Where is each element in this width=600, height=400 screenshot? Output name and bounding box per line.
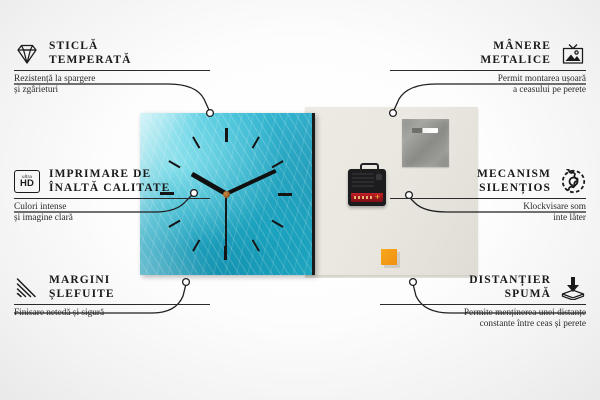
framed-picture-icon: [560, 41, 586, 67]
callout-header: DISTANȚIER SPUMĂ: [380, 274, 586, 304]
callout-description: Klockvisare som inte låter: [390, 199, 586, 225]
callout-description: Finisare netedă și sigură: [14, 305, 210, 319]
feature-callout-manere-metalice[interactable]: MÂNERE METALICE Permit montarea ușoară a…: [390, 40, 586, 97]
gear-icon: [560, 169, 586, 195]
feature-callout-margini-slefuite[interactable]: MARGINI ȘLEFUITE Finisare netedă și sigu…: [14, 274, 210, 319]
callout-title: DISTANȚIER SPUMĂ: [469, 274, 551, 301]
clock-tick: [225, 128, 227, 194]
product-feature-infographic: +: [0, 0, 600, 400]
callout-header: MÂNERE METALICE: [390, 40, 586, 70]
callout-description: Culori intense și imagine clară: [14, 199, 210, 225]
callout-header: ultra HD IMPRIMARE DE ÎNALTĂ CALITATE: [14, 168, 210, 198]
callout-title: MECANISM SILENȚIOS: [477, 168, 551, 195]
diamond-icon: [14, 41, 40, 67]
feature-callout-imprimare-inalta-calitate[interactable]: ultra HD IMPRIMARE DE ÎNALTĂ CALITATE Cu…: [14, 168, 210, 225]
callout-description: Rezistență la spargere și zgârieturi: [14, 71, 210, 97]
mechanism-housing-detail: [352, 173, 374, 187]
clock-tick: [226, 193, 292, 195]
callout-header: MARGINI ȘLEFUITE: [14, 274, 210, 304]
callout-description: Permit montarea ușoară a ceasului pe per…: [390, 71, 586, 97]
callout-description: Permite menținerea unei distanțe constan…: [380, 305, 586, 331]
mechanism-adjust-knob: [376, 174, 382, 180]
clock-mechanism: +: [348, 169, 386, 206]
arrow-onto-pad-icon: [560, 275, 586, 301]
callout-title: MARGINI ȘLEFUITE: [49, 274, 115, 301]
callout-header: STICLĂ TEMPERATĂ: [14, 40, 210, 70]
callout-title: IMPRIMARE DE ÎNALTĂ CALITATE: [49, 168, 170, 195]
battery-plus-label: +: [375, 194, 380, 201]
callout-title: MÂNERE METALICE: [480, 40, 551, 67]
battery: +: [351, 193, 383, 202]
callout-title: STICLĂ TEMPERATĂ: [49, 40, 132, 67]
hd-label: HD: [20, 179, 34, 189]
hanger-keyhole-slot: [412, 128, 438, 133]
ultra-hd-badge-icon: ultra HD: [14, 169, 40, 195]
feature-callout-distantier-spuma[interactable]: DISTANȚIER SPUMĂ Permite menținerea unei…: [380, 274, 586, 331]
feature-callout-mecanism-silentios[interactable]: MECANISM SILENȚIOS Klockvisare som inte …: [390, 168, 586, 225]
hatch-lines-icon: [14, 275, 40, 301]
feature-callout-sticla-temperata[interactable]: STICLĂ TEMPERATĂ Rezistență la spargere …: [14, 40, 210, 97]
foam-spacer: [381, 249, 397, 265]
clock-center-cap: [223, 191, 230, 198]
callout-header: MECANISM SILENȚIOS: [390, 168, 586, 198]
metal-hanger-plate: [402, 119, 449, 167]
clock-second-hand: [225, 194, 227, 252]
